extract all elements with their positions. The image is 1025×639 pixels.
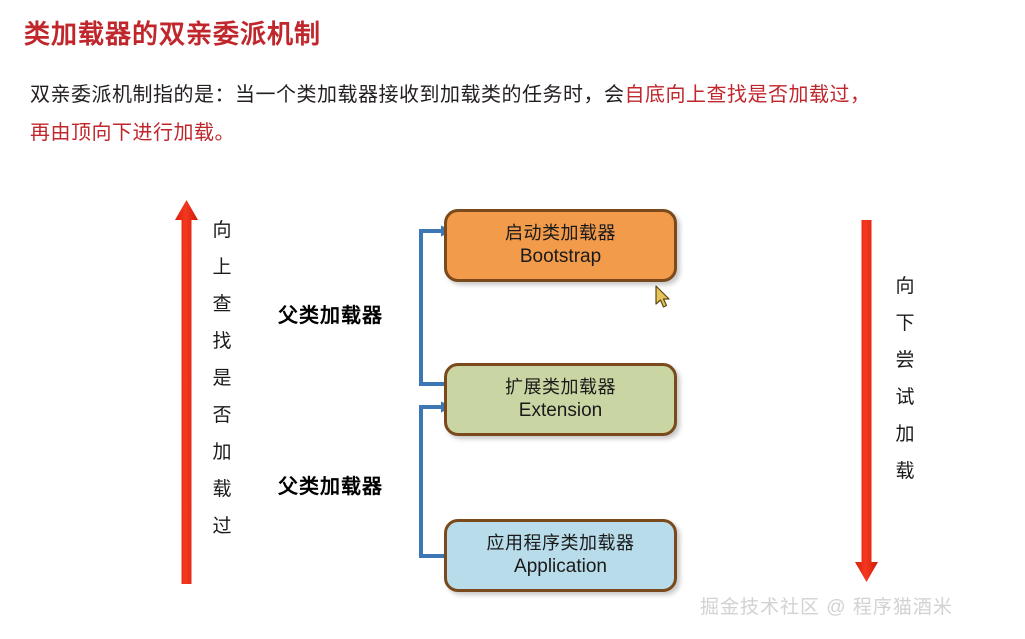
intro-black-text: 双亲委派机制指的是：当一个类加载器接收到加载类的任务时，会 xyxy=(30,84,625,106)
parent-loader-label-2: 父类加载器 xyxy=(278,470,383,499)
left-caption-column: 向 上 查 找 是 否 加 载 过 xyxy=(205,212,239,545)
left-caption-char-4: 是 xyxy=(205,360,239,397)
right-caption-char-1: 下 xyxy=(888,305,922,342)
left-caption-char-3: 找 xyxy=(205,323,239,360)
right-caption-char-2: 尝 xyxy=(888,342,922,379)
watermark: 掘金技术社区 @ 程序猫酒米 xyxy=(700,592,953,619)
loader-box-application-cn: 应用程序类加载器 xyxy=(487,532,635,555)
page-title: 类加载器的双亲委派机制 xyxy=(24,14,321,51)
intro-paragraph: 双亲委派机制指的是：当一个类加载器接收到加载类的任务时，会自底向上查找是否加载过… xyxy=(30,76,990,152)
intro-red-text-2: 再由顶向下进行加载。 xyxy=(30,122,235,144)
intro-red-text-1: 自底向上查找是否加载过， xyxy=(625,84,871,106)
parent-loader-label-1: 父类加载器 xyxy=(278,299,383,328)
left-caption-char-7: 载 xyxy=(205,471,239,508)
down-arrow-icon xyxy=(852,218,882,584)
left-caption-char-5: 否 xyxy=(205,397,239,434)
loader-box-bootstrap-cn: 启动类加载器 xyxy=(505,222,616,245)
right-caption-char-3: 试 xyxy=(888,379,922,416)
loader-box-extension-en: Extension xyxy=(519,399,602,423)
mouse-pointer-icon xyxy=(655,285,673,310)
right-caption-column: 向 下 尝 试 加 载 xyxy=(888,268,922,490)
right-caption-char-5: 载 xyxy=(888,453,922,490)
loader-box-application-en: Application xyxy=(514,555,607,579)
left-caption-char-0: 向 xyxy=(205,212,239,249)
loader-box-bootstrap-en: Bootstrap xyxy=(520,245,601,269)
slide-canvas: 类加载器的双亲委派机制 双亲委派机制指的是：当一个类加载器接收到加载类的任务时，… xyxy=(0,0,1025,639)
up-arrow-icon xyxy=(172,198,202,586)
right-caption-char-0: 向 xyxy=(888,268,922,305)
loader-box-bootstrap[interactable]: 启动类加载器 Bootstrap xyxy=(444,209,677,282)
left-caption-char-6: 加 xyxy=(205,434,239,471)
loader-box-extension[interactable]: 扩展类加载器 Extension xyxy=(444,363,677,436)
left-caption-char-8: 过 xyxy=(205,508,239,545)
right-caption-char-4: 加 xyxy=(888,416,922,453)
loader-box-extension-cn: 扩展类加载器 xyxy=(505,376,616,399)
loader-box-application[interactable]: 应用程序类加载器 Application xyxy=(444,519,677,592)
left-caption-char-1: 上 xyxy=(205,249,239,286)
left-caption-char-2: 查 xyxy=(205,286,239,323)
